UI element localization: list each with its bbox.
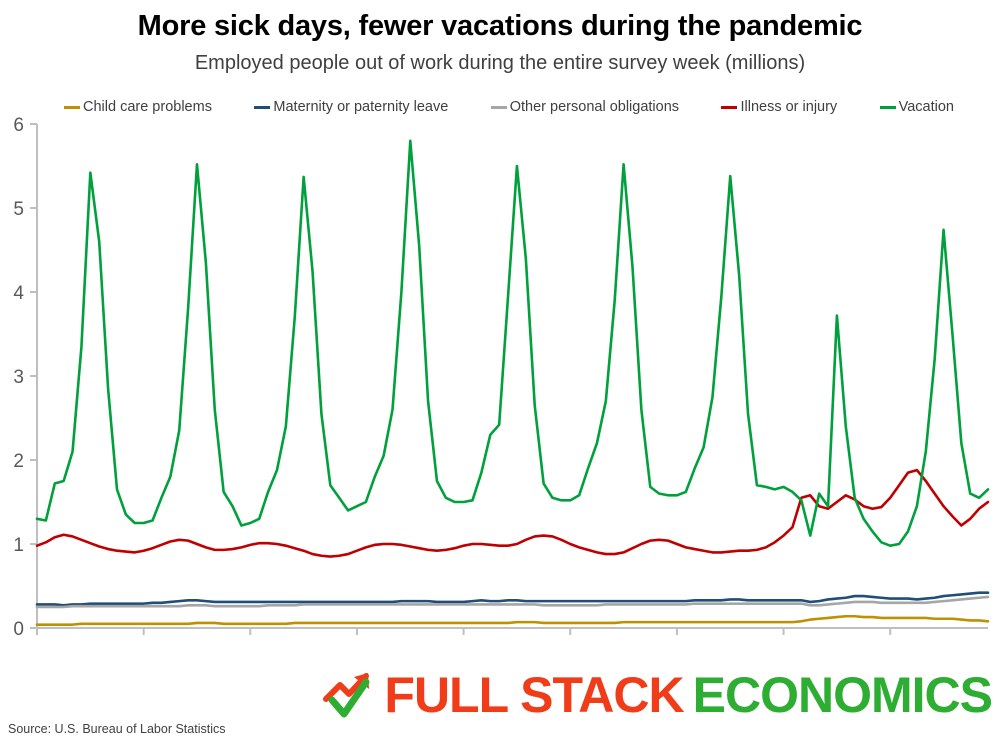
chart-page: More sick days, fewer vacations during t… — [0, 0, 1000, 744]
series-layer: Child care problemsMaternity or paternit… — [37, 141, 988, 625]
y-axis-tick-label: 4 — [13, 283, 24, 304]
y-axis-tick-label: 0 — [13, 619, 24, 640]
series-line[interactable]: Child care problems — [37, 616, 988, 624]
y-axis-tick-label: 6 — [13, 115, 24, 136]
y-axis-tick-label: 3 — [13, 367, 24, 388]
y-axis-tick-label: 2 — [13, 451, 24, 472]
y-axis-tick-labels: 0123456 — [13, 115, 24, 640]
y-axis-tick-label: 5 — [13, 199, 24, 220]
legend-swatch — [64, 106, 80, 109]
source-note: Source: U.S. Bureau of Labor Statistics — [8, 722, 225, 736]
plot-area: Child care problemsMaternity or paternit… — [0, 110, 1000, 640]
page-subtitle: Employed people out of work during the e… — [0, 52, 1000, 75]
line-chart: Child care problemsMaternity or paternit… — [0, 110, 1000, 640]
legend-swatch — [254, 106, 270, 109]
logo-text-full-stack: FULL STACK — [384, 670, 683, 720]
logo-text-economics: ECONOMICS — [693, 670, 992, 720]
legend-swatch — [880, 106, 896, 109]
uptrend-arrow-check-icon — [322, 669, 378, 721]
page-title: More sick days, fewer vacations during t… — [0, 10, 1000, 43]
axis-layer — [30, 124, 988, 635]
series-line[interactable]: Illness or injury — [37, 470, 988, 557]
y-axis-tick-label: 1 — [13, 535, 24, 556]
series-line[interactable]: Vacation — [37, 141, 988, 546]
legend-swatch — [721, 106, 737, 109]
legend-swatch — [491, 106, 507, 109]
full-stack-economics-logo: FULL STACK ECONOMICS — [322, 666, 992, 724]
